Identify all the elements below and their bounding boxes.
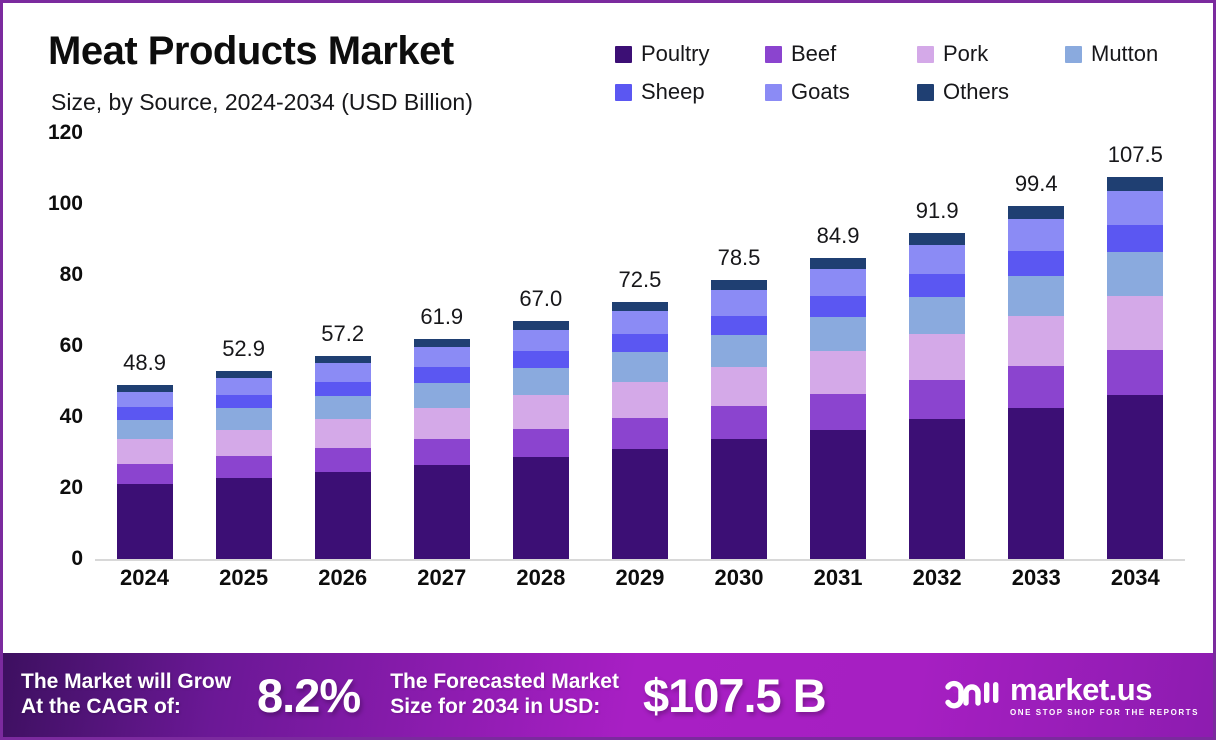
logo-tagline: ONE STOP SHOP FOR THE REPORTS bbox=[1010, 709, 1199, 717]
bar-segment-pork[interactable] bbox=[216, 430, 272, 456]
legend-item-beef[interactable]: Beef bbox=[765, 43, 917, 65]
bar-segment-mutton[interactable] bbox=[414, 383, 470, 408]
bar-segment-poultry[interactable] bbox=[513, 457, 569, 559]
bar-column-2031[interactable]: 84.9 bbox=[789, 133, 888, 559]
x-axis-tick-2030: 2030 bbox=[690, 565, 789, 605]
cagr-caption-line1: The Market will Grow bbox=[21, 670, 231, 693]
bar-segment-others[interactable] bbox=[909, 233, 965, 245]
bar-segment-poultry[interactable] bbox=[810, 430, 866, 559]
x-axis-tick-2031: 2031 bbox=[789, 565, 888, 605]
bar-column-2026[interactable]: 57.2 bbox=[293, 133, 392, 559]
bar-stack bbox=[513, 321, 569, 559]
bar-segment-others[interactable] bbox=[315, 356, 371, 363]
bar-segment-mutton[interactable] bbox=[711, 335, 767, 367]
x-axis-tick-2028: 2028 bbox=[491, 565, 590, 605]
legend-swatch-icon bbox=[917, 84, 934, 101]
bar-segment-sheep[interactable] bbox=[1008, 251, 1064, 276]
bar-segment-goats[interactable] bbox=[612, 311, 668, 334]
bar-segment-pork[interactable] bbox=[513, 395, 569, 428]
bar-segment-others[interactable] bbox=[810, 258, 866, 269]
chart-legend: PoultryBeefPorkMuttonSheepGoatsOthers bbox=[615, 35, 1205, 111]
bar-segment-sheep[interactable] bbox=[909, 274, 965, 297]
bar-segment-goats[interactable] bbox=[1008, 219, 1064, 251]
bar-column-2033[interactable]: 99.4 bbox=[987, 133, 1086, 559]
bar-segment-pork[interactable] bbox=[711, 367, 767, 406]
legend-swatch-icon bbox=[615, 46, 632, 63]
bar-segment-sheep[interactable] bbox=[513, 351, 569, 368]
chart-plot-area: 020406080100120 48.952.957.261.967.072.5… bbox=[3, 133, 1213, 623]
bar-segment-beef[interactable] bbox=[612, 418, 668, 449]
bar-segment-poultry[interactable] bbox=[1107, 395, 1163, 559]
bar-segment-goats[interactable] bbox=[1107, 191, 1163, 225]
x-axis-tick-2027: 2027 bbox=[392, 565, 491, 605]
bar-segment-others[interactable] bbox=[1008, 206, 1064, 219]
bar-segment-mutton[interactable] bbox=[513, 368, 569, 395]
bar-segment-mutton[interactable] bbox=[1107, 252, 1163, 296]
bar-segment-pork[interactable] bbox=[414, 408, 470, 439]
y-axis-tick: 80 bbox=[60, 263, 83, 287]
x-axis-tick-2025: 2025 bbox=[194, 565, 293, 605]
bar-segment-pork[interactable] bbox=[810, 351, 866, 393]
bar-segment-others[interactable] bbox=[1107, 177, 1163, 190]
bar-segment-beef[interactable] bbox=[513, 429, 569, 457]
bar-segment-goats[interactable] bbox=[513, 330, 569, 351]
legend-item-sheep[interactable]: Sheep bbox=[615, 81, 765, 103]
bar-segment-sheep[interactable] bbox=[117, 407, 173, 419]
bar-segment-beef[interactable] bbox=[1008, 366, 1064, 408]
legend-label: Sheep bbox=[641, 81, 705, 103]
bar-segment-goats[interactable] bbox=[315, 363, 371, 381]
bar-segment-beef[interactable] bbox=[216, 456, 272, 478]
bar-total-label: 48.9 bbox=[95, 350, 194, 376]
bar-segment-beef[interactable] bbox=[909, 380, 965, 419]
bar-segment-pork[interactable] bbox=[315, 419, 371, 447]
page-subtitle: Size, by Source, 2024-2034 (USD Billion) bbox=[51, 89, 473, 116]
bar-stack bbox=[909, 233, 965, 559]
y-axis-tick: 20 bbox=[60, 476, 83, 500]
bar-segment-pork[interactable] bbox=[909, 334, 965, 380]
bar-segment-goats[interactable] bbox=[216, 378, 272, 395]
bar-total-label: 84.9 bbox=[789, 223, 888, 249]
legend-item-pork[interactable]: Pork bbox=[917, 43, 1065, 65]
y-axis-tick: 120 bbox=[48, 121, 83, 145]
bar-group: 48.952.957.261.967.072.578.584.991.999.4… bbox=[95, 133, 1185, 559]
legend-swatch-icon bbox=[765, 84, 782, 101]
bar-stack bbox=[1008, 206, 1064, 559]
bar-segment-poultry[interactable] bbox=[1008, 408, 1064, 559]
bar-stack bbox=[216, 371, 272, 559]
bar-total-label: 99.4 bbox=[987, 171, 1086, 197]
bar-stack bbox=[711, 280, 767, 559]
bar-segment-beef[interactable] bbox=[1107, 350, 1163, 396]
bar-segment-others[interactable] bbox=[711, 280, 767, 290]
bar-segment-goats[interactable] bbox=[810, 269, 866, 296]
bar-total-label: 78.5 bbox=[690, 245, 789, 271]
logo-text: market.us ONE STOP SHOP FOR THE REPORTS bbox=[1010, 674, 1199, 717]
cagr-value: 8.2% bbox=[257, 668, 360, 723]
legend-item-goats[interactable]: Goats bbox=[765, 81, 917, 103]
cagr-caption-line2: At the CAGR of: bbox=[21, 695, 181, 718]
legend-label: Goats bbox=[791, 81, 850, 103]
bar-segment-goats[interactable] bbox=[711, 290, 767, 315]
bar-segment-poultry[interactable] bbox=[612, 449, 668, 559]
forecast-caption: The Forecasted Market Size for 2034 in U… bbox=[390, 670, 619, 720]
bar-column-2024[interactable]: 48.9 bbox=[95, 133, 194, 559]
bar-segment-beef[interactable] bbox=[810, 394, 866, 430]
bar-segment-poultry[interactable] bbox=[909, 419, 965, 559]
bar-column-2025[interactable]: 52.9 bbox=[194, 133, 293, 559]
bar-column-2030[interactable]: 78.5 bbox=[690, 133, 789, 559]
legend-row: SheepGoatsOthers bbox=[615, 73, 1205, 111]
bar-segment-sheep[interactable] bbox=[315, 382, 371, 396]
bar-segment-poultry[interactable] bbox=[414, 465, 470, 559]
x-axis-baseline bbox=[95, 559, 1185, 561]
legend-swatch-icon bbox=[615, 84, 632, 101]
bar-segment-mutton[interactable] bbox=[315, 396, 371, 419]
infographic-root: Meat Products Market Size, by Source, 20… bbox=[0, 0, 1216, 740]
market-us-mark-icon bbox=[944, 673, 1000, 718]
legend-swatch-icon bbox=[765, 46, 782, 63]
bar-segment-mutton[interactable] bbox=[612, 352, 668, 381]
bar-segment-sheep[interactable] bbox=[414, 367, 470, 382]
x-axis-tick-2024: 2024 bbox=[95, 565, 194, 605]
bar-column-2029[interactable]: 72.5 bbox=[590, 133, 689, 559]
bar-segment-beef[interactable] bbox=[711, 406, 767, 439]
legend-label: Poultry bbox=[641, 43, 709, 65]
bar-segment-mutton[interactable] bbox=[909, 297, 965, 335]
legend-label: Beef bbox=[791, 43, 836, 65]
bar-segment-goats[interactable] bbox=[414, 347, 470, 367]
bar-segment-pork[interactable] bbox=[612, 382, 668, 418]
logo-name: market.us bbox=[1010, 674, 1199, 705]
y-axis-tick: 40 bbox=[60, 405, 83, 429]
bar-stack bbox=[117, 385, 173, 559]
bar-total-label: 52.9 bbox=[194, 336, 293, 362]
bar-segment-mutton[interactable] bbox=[810, 317, 866, 352]
bar-stack bbox=[414, 339, 470, 559]
bar-segment-others[interactable] bbox=[612, 302, 668, 311]
bar-segment-beef[interactable] bbox=[414, 439, 470, 465]
bar-column-2032[interactable]: 91.9 bbox=[888, 133, 987, 559]
bar-segment-beef[interactable] bbox=[315, 448, 371, 472]
bar-segment-pork[interactable] bbox=[1008, 316, 1064, 365]
legend-item-mutton[interactable]: Mutton bbox=[1065, 43, 1205, 65]
bar-total-label: 67.0 bbox=[491, 286, 590, 312]
bar-segment-sheep[interactable] bbox=[612, 334, 668, 352]
bar-total-label: 61.9 bbox=[392, 304, 491, 330]
bar-segment-goats[interactable] bbox=[117, 392, 173, 408]
forecast-caption-line2: Size for 2034 in USD: bbox=[390, 695, 600, 718]
legend-swatch-icon bbox=[917, 46, 934, 63]
summary-banner: The Market will Grow At the CAGR of: 8.2… bbox=[3, 653, 1213, 737]
bar-segment-mutton[interactable] bbox=[216, 408, 272, 430]
bar-segment-sheep[interactable] bbox=[216, 395, 272, 408]
cagr-caption: The Market will Grow At the CAGR of: bbox=[21, 670, 231, 720]
bar-segment-poultry[interactable] bbox=[711, 439, 767, 559]
page-title: Meat Products Market bbox=[48, 29, 454, 74]
legend-swatch-icon bbox=[1065, 46, 1082, 63]
bar-segment-poultry[interactable] bbox=[117, 484, 173, 559]
x-axis-tick-2029: 2029 bbox=[590, 565, 689, 605]
bar-segment-poultry[interactable] bbox=[216, 478, 272, 559]
x-axis: 2024202520262027202820292030203120322033… bbox=[95, 565, 1185, 605]
bar-segment-sheep[interactable] bbox=[810, 296, 866, 317]
bar-stack bbox=[315, 356, 371, 559]
bar-segment-mutton[interactable] bbox=[117, 420, 173, 440]
x-axis-tick-2026: 2026 bbox=[293, 565, 392, 605]
bar-column-2027[interactable]: 61.9 bbox=[392, 133, 491, 559]
bar-segment-poultry[interactable] bbox=[315, 472, 371, 559]
y-axis-tick: 100 bbox=[48, 192, 83, 216]
bar-total-label: 107.5 bbox=[1086, 142, 1185, 168]
market-us-logo[interactable]: market.us ONE STOP SHOP FOR THE REPORTS bbox=[944, 673, 1199, 718]
bar-segment-sheep[interactable] bbox=[1107, 225, 1163, 252]
bar-segment-beef[interactable] bbox=[117, 464, 173, 485]
bar-segment-sheep[interactable] bbox=[711, 316, 767, 336]
legend-label: Mutton bbox=[1091, 43, 1158, 65]
bar-stack bbox=[612, 302, 668, 559]
forecast-caption-line1: The Forecasted Market bbox=[390, 670, 619, 693]
bar-segment-others[interactable] bbox=[414, 339, 470, 347]
legend-label: Pork bbox=[943, 43, 988, 65]
x-axis-tick-2034: 2034 bbox=[1086, 565, 1185, 605]
y-axis-tick: 60 bbox=[60, 334, 83, 358]
legend-item-others[interactable]: Others bbox=[917, 81, 1065, 103]
x-axis-tick-2032: 2032 bbox=[888, 565, 987, 605]
bar-column-2028[interactable]: 67.0 bbox=[491, 133, 590, 559]
bar-stack bbox=[810, 258, 866, 559]
y-axis-tick: 0 bbox=[71, 547, 83, 571]
y-axis: 020406080100120 bbox=[3, 133, 95, 563]
bar-column-2034[interactable]: 107.5 bbox=[1086, 133, 1185, 559]
bar-segment-others[interactable] bbox=[216, 371, 272, 378]
forecast-value: $107.5 B bbox=[643, 668, 826, 723]
bar-total-label: 57.2 bbox=[293, 321, 392, 347]
x-axis-tick-2033: 2033 bbox=[987, 565, 1086, 605]
bar-stack bbox=[1107, 177, 1163, 559]
legend-label: Others bbox=[943, 81, 1009, 103]
bar-segment-mutton[interactable] bbox=[1008, 276, 1064, 316]
bar-segment-goats[interactable] bbox=[909, 245, 965, 274]
bar-segment-others[interactable] bbox=[513, 321, 569, 330]
legend-row: PoultryBeefPorkMutton bbox=[615, 35, 1205, 73]
bar-segment-pork[interactable] bbox=[1107, 296, 1163, 350]
bar-segment-pork[interactable] bbox=[117, 439, 173, 463]
bar-total-label: 91.9 bbox=[888, 198, 987, 224]
legend-item-poultry[interactable]: Poultry bbox=[615, 43, 765, 65]
bar-total-label: 72.5 bbox=[590, 267, 689, 293]
